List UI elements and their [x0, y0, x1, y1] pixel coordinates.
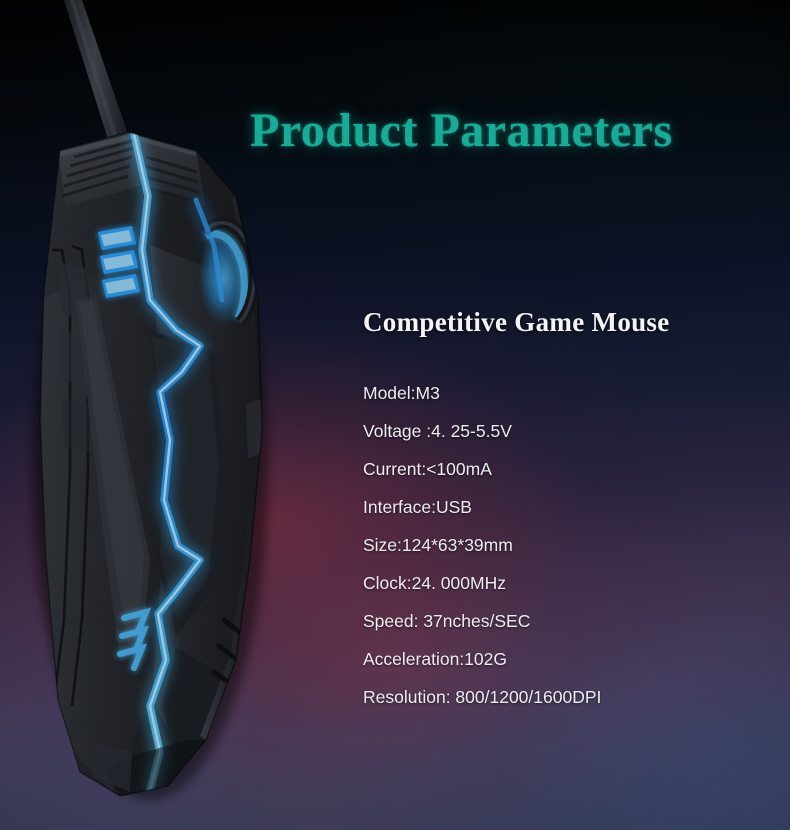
spec-item-clock: Clock:24. 000MHz — [363, 575, 763, 613]
spec-item-current: Current:<100mA — [363, 461, 763, 499]
product-name: Competitive Game Mouse — [363, 307, 670, 338]
product-parameters-banner: Product Parameters Competitive Game Mous… — [0, 0, 790, 830]
spec-item-speed: Speed: 37nches/SEC — [363, 613, 763, 651]
spec-item-acceleration: Acceleration:102G — [363, 651, 763, 689]
specification-list: Model:M3 Voltage :4. 25-5.5V Current:<10… — [363, 385, 763, 727]
spec-item-size: Size:124*63*39mm — [363, 537, 763, 575]
spec-item-interface: Interface:USB — [363, 499, 763, 537]
spec-item-resolution: Resolution: 800/1200/1600DPI — [363, 689, 763, 727]
mouse-cable — [64, 0, 132, 152]
mouse-body — [0, 120, 300, 820]
page-title: Product Parameters — [250, 103, 690, 158]
spec-item-model: Model:M3 — [363, 385, 763, 423]
spec-item-voltage: Voltage :4. 25-5.5V — [363, 423, 763, 461]
